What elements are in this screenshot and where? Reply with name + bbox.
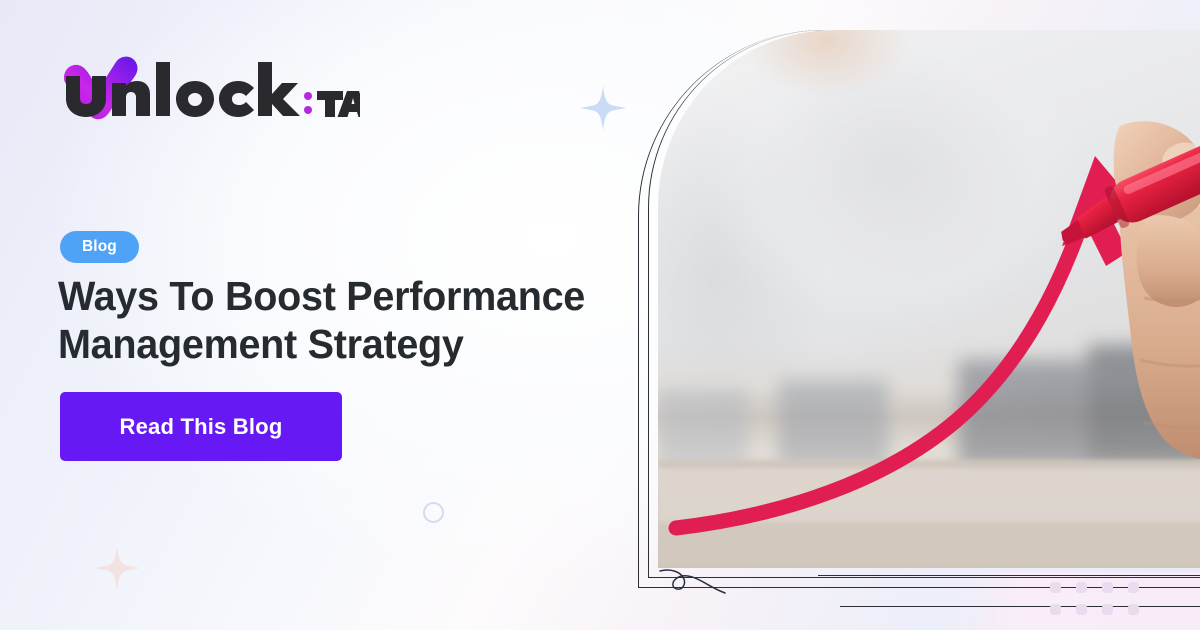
photo-white-card — [658, 30, 1200, 568]
brand-logo[interactable] — [60, 56, 360, 118]
logo-colon-icon — [304, 92, 312, 114]
blog-promo-banner: Blog Ways To Boost Performance Managemen… — [0, 0, 1200, 630]
logo-wordmark-talent — [317, 91, 360, 117]
logo-wordmark-unlock — [66, 62, 300, 117]
content-column — [0, 0, 640, 630]
card-edge-line-bottom — [840, 606, 1200, 607]
card-edge-line-top — [818, 575, 1200, 576]
hero-image-panel — [630, 18, 1200, 630]
hand-drawing-growth-arrow-photo — [658, 30, 1200, 568]
